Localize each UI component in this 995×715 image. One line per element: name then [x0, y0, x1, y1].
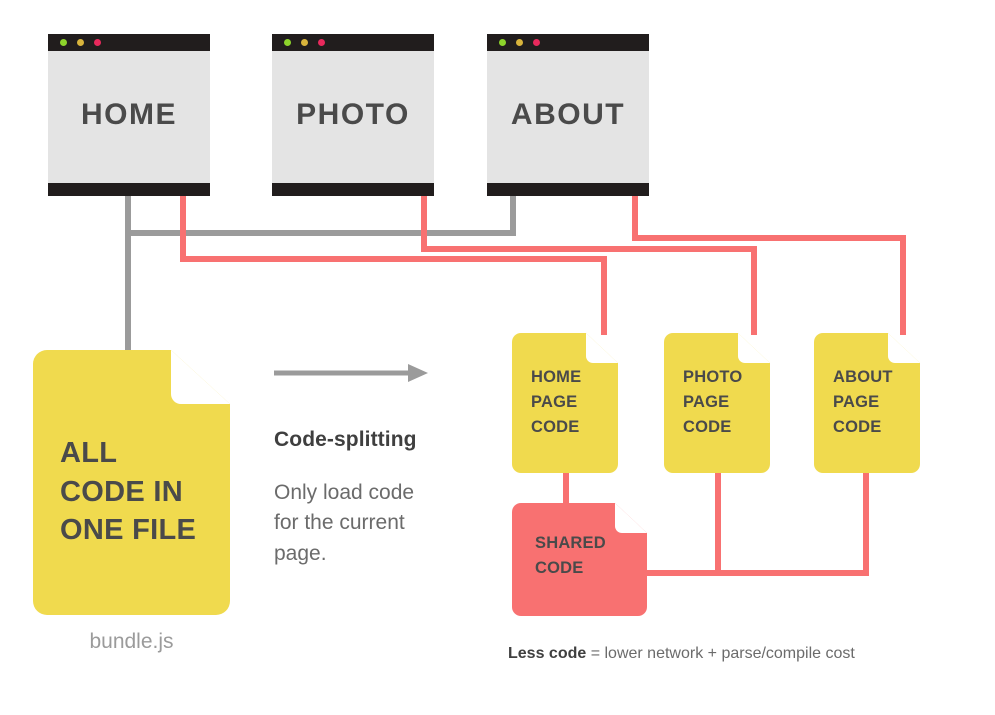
file-card-photo-chunk[interactable]: PHOTO PAGE CODE	[664, 333, 770, 473]
footnote-strong: Less code	[508, 645, 586, 662]
bundle-filename: bundle.js	[33, 630, 230, 654]
window-titlebar	[48, 34, 210, 51]
traffic-light-pink-icon	[318, 39, 325, 46]
browser-label-home: HOME	[48, 98, 210, 132]
traffic-light-amber-icon	[301, 39, 308, 46]
window-titlebar	[487, 34, 649, 51]
traffic-light-green-icon	[499, 39, 506, 46]
traffic-light-green-icon	[60, 39, 67, 46]
traffic-light-amber-icon	[77, 39, 84, 46]
file-card-bundle[interactable]: ALL CODE IN ONE FILE	[33, 350, 230, 615]
traffic-light-amber-icon	[516, 39, 523, 46]
footnote-rest: = lower network + parse/compile cost	[586, 645, 855, 662]
file-card-home-chunk[interactable]: HOME PAGE CODE	[512, 333, 618, 473]
window-traffic-lights	[499, 39, 540, 46]
wire-red-about-chunk	[635, 196, 903, 335]
file-label-bundle: ALL CODE IN ONE FILE	[60, 434, 220, 550]
file-card-about-chunk[interactable]: ABOUT PAGE CODE	[814, 333, 920, 473]
browser-label-photo: PHOTO	[272, 98, 434, 132]
window-footerbar	[272, 183, 434, 196]
wire-red-photo-chunk	[424, 196, 754, 335]
file-label-photo-chunk: PHOTO PAGE CODE	[683, 365, 764, 440]
window-titlebar	[272, 34, 434, 51]
traffic-light-pink-icon	[533, 39, 540, 46]
code-splitting-title: Code-splitting	[274, 428, 479, 452]
file-card-shared-code[interactable]: SHARED CODE	[512, 503, 647, 616]
browser-window-about[interactable]: ABOUT	[487, 34, 649, 196]
file-label-about-chunk: ABOUT PAGE CODE	[833, 365, 914, 440]
browser-label-about: ABOUT	[487, 98, 649, 132]
file-label-home-chunk: HOME PAGE CODE	[531, 365, 612, 440]
middle-explanation: Code-splitting Only load code for the cu…	[274, 362, 479, 569]
wire-red-about-shared	[645, 470, 866, 573]
wire-red-home-chunk	[183, 196, 604, 335]
window-traffic-lights	[284, 39, 325, 46]
traffic-light-pink-icon	[94, 39, 101, 46]
window-footerbar	[487, 183, 649, 196]
browser-window-photo[interactable]: PHOTO	[272, 34, 434, 196]
diagram-canvas: HOME PHOTO ABOUT ALL CO	[0, 0, 995, 715]
wire-gray-home-about	[128, 196, 513, 233]
file-label-shared-code: SHARED CODE	[535, 531, 641, 581]
window-traffic-lights	[60, 39, 101, 46]
wire-red-photo-shared	[645, 470, 718, 573]
traffic-light-green-icon	[284, 39, 291, 46]
code-splitting-description: Only load code for the current page.	[274, 478, 479, 569]
footnote: Less code = lower network + parse/compil…	[508, 645, 855, 663]
window-footerbar	[48, 183, 210, 196]
arrow-right-icon	[274, 362, 479, 404]
browser-window-home[interactable]: HOME	[48, 34, 210, 196]
